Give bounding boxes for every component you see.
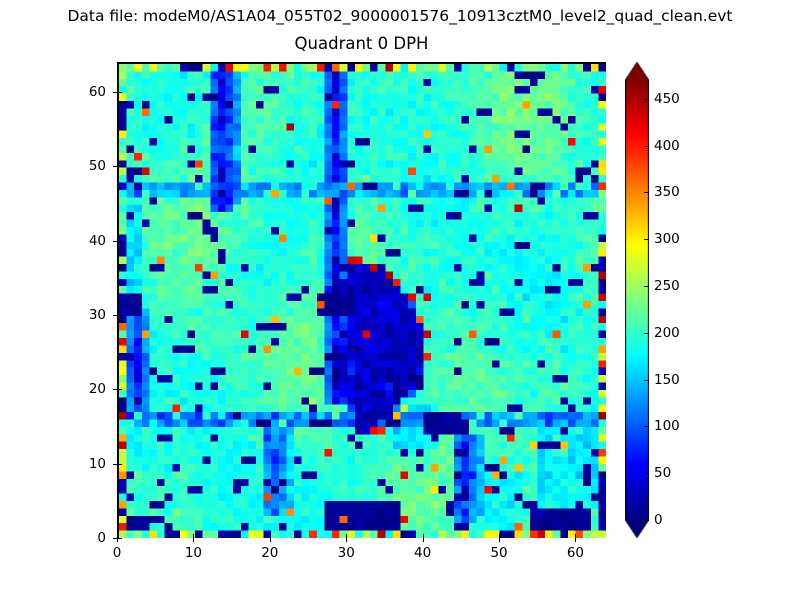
colorbar-tick-mark bbox=[644, 99, 649, 100]
colorbar-tick-label: 0 bbox=[654, 512, 663, 528]
y-tick-label: 0 bbox=[46, 530, 106, 546]
y-tick-mark bbox=[118, 92, 122, 93]
colorbar-tick-label: 50 bbox=[654, 465, 671, 481]
colorbar-tick-mark bbox=[644, 520, 649, 521]
y-tick-mark-outer bbox=[113, 92, 117, 93]
y-tick-mark-outer bbox=[113, 315, 117, 316]
x-tick-label: 30 bbox=[324, 545, 368, 561]
colorbar-tick-mark bbox=[644, 286, 649, 287]
colorbar-tick-mark bbox=[644, 192, 649, 193]
y-tick-label: 50 bbox=[46, 158, 106, 174]
y-tick-mark-outer bbox=[113, 538, 117, 539]
x-tick-label: 0 bbox=[95, 545, 139, 561]
y-tick-mark-outer bbox=[113, 464, 117, 465]
colorbar-tick-mark bbox=[644, 380, 649, 381]
colorbar-tick-mark bbox=[644, 426, 649, 427]
x-tick-mark-outer bbox=[193, 538, 194, 542]
colorbar-gradient bbox=[625, 62, 649, 538]
x-tick-mark-outer bbox=[423, 538, 424, 542]
y-tick-label: 10 bbox=[46, 456, 106, 472]
y-tick-mark-outer bbox=[113, 389, 117, 390]
y-tick-mark-outer bbox=[113, 166, 117, 167]
y-tick-mark bbox=[118, 389, 122, 390]
y-tick-mark bbox=[118, 241, 122, 242]
x-tick-mark-outer bbox=[499, 538, 500, 542]
y-tick-mark bbox=[118, 538, 122, 539]
colorbar-tick-label: 300 bbox=[654, 231, 680, 247]
heatmap-image[interactable] bbox=[119, 64, 606, 538]
colorbar-tick-label: 450 bbox=[654, 91, 680, 107]
colorbar[interactable] bbox=[625, 62, 649, 538]
x-tick-label: 40 bbox=[401, 545, 445, 561]
colorbar-tick-mark bbox=[644, 333, 649, 334]
data-file-suptitle: Data file: modeM0/AS1A04_055T02_90000015… bbox=[0, 6, 800, 26]
figure-canvas: Data file: modeM0/AS1A04_055T02_90000015… bbox=[0, 0, 800, 600]
page-title: Quadrant 0 DPH bbox=[117, 33, 606, 55]
colorbar-tick-label: 400 bbox=[654, 138, 680, 154]
x-tick-label: 10 bbox=[171, 545, 215, 561]
y-tick-label: 30 bbox=[46, 307, 106, 323]
heatmap-axes[interactable] bbox=[117, 62, 606, 538]
x-tick-mark-outer bbox=[575, 538, 576, 542]
x-tick-label: 60 bbox=[553, 545, 597, 561]
y-tick-label: 60 bbox=[46, 84, 106, 100]
y-tick-label: 20 bbox=[46, 381, 106, 397]
colorbar-tick-mark bbox=[644, 239, 649, 240]
y-tick-mark bbox=[118, 315, 122, 316]
colorbar-tick-label: 200 bbox=[654, 325, 680, 341]
colorbar-tick-label: 100 bbox=[654, 418, 680, 434]
colorbar-tick-label: 150 bbox=[654, 372, 680, 388]
colorbar-tick-label: 350 bbox=[654, 184, 680, 200]
x-tick-label: 50 bbox=[477, 545, 521, 561]
colorbar-tick-mark bbox=[644, 146, 649, 147]
x-tick-mark-outer bbox=[346, 538, 347, 542]
colorbar-tick-label: 250 bbox=[654, 278, 680, 294]
x-tick-label: 20 bbox=[248, 545, 292, 561]
y-tick-mark-outer bbox=[113, 241, 117, 242]
x-tick-mark-outer bbox=[270, 538, 271, 542]
colorbar-tick-mark bbox=[644, 473, 649, 474]
y-tick-mark bbox=[118, 166, 122, 167]
y-tick-label: 40 bbox=[46, 233, 106, 249]
y-tick-mark bbox=[118, 464, 122, 465]
